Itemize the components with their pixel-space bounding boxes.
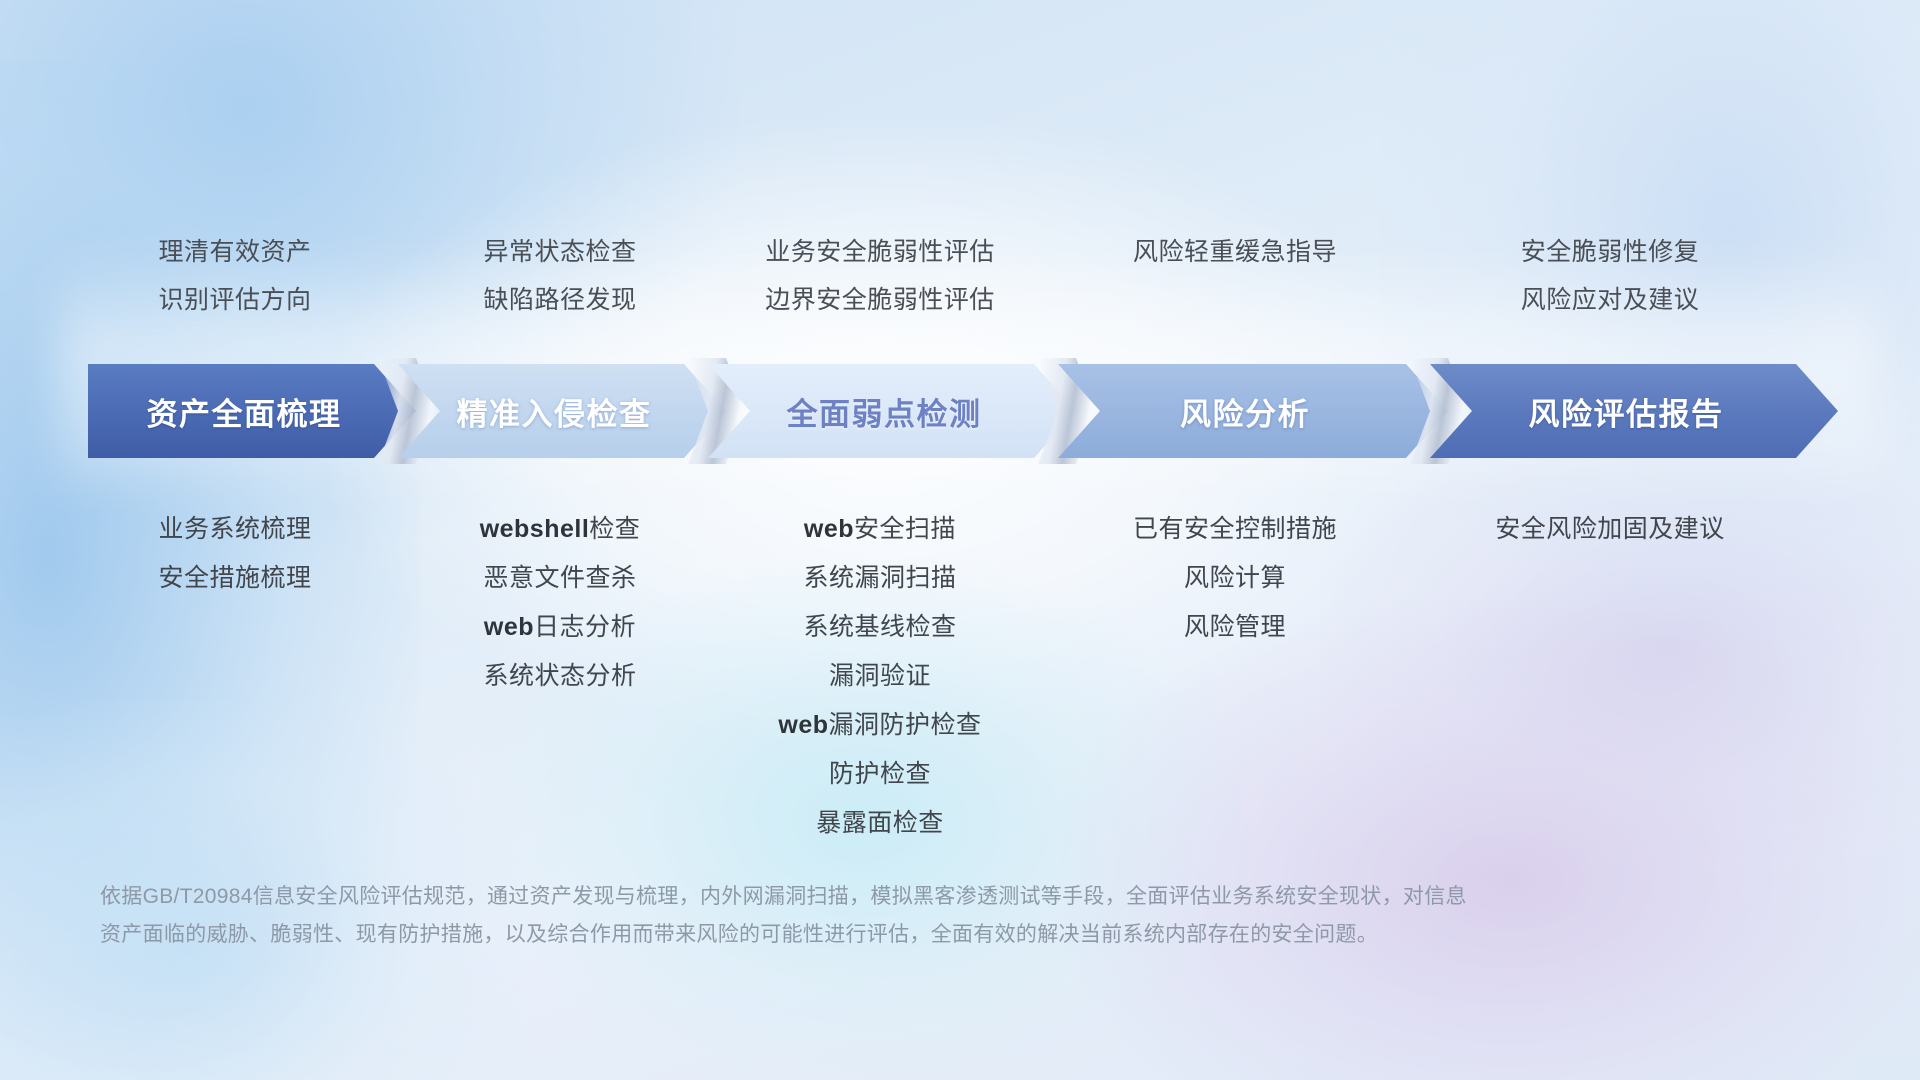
stage-arrow-asset-inventory[interactable]: 资产全面梳理 — [88, 364, 416, 458]
list-item: web安全扫描 — [680, 505, 1080, 554]
stage3-bottom-group: web安全扫描 系统漏洞扫描 系统基线检查 漏洞验证 web漏洞防护检查 防护检… — [680, 505, 1080, 848]
stage-arrow-risk-analysis[interactable]: 风险分析 — [1058, 364, 1448, 458]
stage-arrow-intrusion-check[interactable]: 精准入侵检查 — [398, 364, 726, 458]
stage3-label: 全面弱点检测 — [787, 389, 982, 434]
stage2-bottom-item-1-prefix: webshell — [480, 515, 590, 543]
list-item: 防护检查 — [680, 750, 1080, 799]
stage5-label: 风险评估报告 — [1529, 389, 1724, 434]
stage3-top-item-2: 边界安全脆弱性评估 — [680, 276, 1080, 324]
stage-arrow-weakness-detection[interactable]: 全面弱点检测 — [708, 364, 1076, 458]
stage3-bottom-item-6: 防护检查 — [829, 760, 931, 788]
stage4-bottom-item-1: 已有安全控制措施 — [1133, 515, 1337, 543]
stage4-bottom-item-3: 风险管理 — [1184, 613, 1286, 641]
footer-line-2: 资产面临的威胁、脆弱性、现有防护措施，以及综合作用而带来风险的可能性进行评估，全… — [100, 916, 1820, 954]
stage4-bottom-item-2: 风险计算 — [1184, 564, 1286, 592]
stage3-bottom-item-3: 系统基线检查 — [803, 613, 956, 641]
stage4-top-group: 风险轻重缓急指导 — [1035, 228, 1435, 276]
stage5-top-group: 安全脆弱性修复 风险应对及建议 — [1400, 228, 1820, 324]
stage1-label: 资产全面梳理 — [147, 389, 342, 434]
stage3-bottom-item-1-prefix: web — [804, 515, 854, 543]
stage3-bottom-item-5-prefix: web — [778, 711, 828, 739]
list-item: 风险管理 — [1035, 603, 1435, 652]
stage2-bottom-item-2: 恶意文件查杀 — [483, 564, 636, 592]
stage1-bottom-item-2: 安全措施梳理 — [158, 564, 311, 592]
footer-description: 依据GB/T20984信息安全风险评估规范，通过资产发现与梳理，内外网漏洞扫描，… — [100, 878, 1820, 954]
stage5-bottom-item-1: 安全风险加固及建议 — [1495, 515, 1725, 543]
list-item: 风险计算 — [1035, 554, 1435, 603]
stage3-bottom-item-4: 漏洞验证 — [829, 662, 931, 690]
stage3-bottom-item-5: 漏洞防护检查 — [829, 711, 982, 739]
list-item: web漏洞防护检查 — [680, 701, 1080, 750]
stage5-top-item-2: 风险应对及建议 — [1400, 276, 1820, 324]
stage2-bottom-item-3: 日志分析 — [534, 613, 636, 641]
stage5-top-item-1: 安全脆弱性修复 — [1400, 228, 1820, 276]
stage1-top-group: 理清有效资产 识别评估方向 — [40, 228, 430, 324]
stage4-bottom-group: 已有安全控制措施 风险计算 风险管理 — [1035, 505, 1435, 652]
stage2-bottom-item-4: 系统状态分析 — [483, 662, 636, 690]
list-item: 暴露面检查 — [680, 799, 1080, 848]
stage1-top-item-2: 识别评估方向 — [40, 276, 430, 324]
stage-top-labels: 理清有效资产 识别评估方向 异常状态检查 缺陷路径发现 业务安全脆弱性评估 边界… — [0, 228, 1920, 318]
stage3-bottom-item-1: 安全扫描 — [854, 515, 956, 543]
stage4-top-item-1: 风险轻重缓急指导 — [1035, 228, 1435, 276]
stage1-top-item-1: 理清有效资产 — [40, 228, 430, 276]
stage3-top-group: 业务安全脆弱性评估 边界安全脆弱性评估 — [680, 228, 1080, 324]
stage1-bottom-item-1: 业务系统梳理 — [158, 515, 311, 543]
list-item: 系统基线检查 — [680, 603, 1080, 652]
stage1-bottom-group: 业务系统梳理 安全措施梳理 — [40, 505, 430, 603]
stage2-label: 精准入侵检查 — [457, 389, 652, 434]
list-item: 已有安全控制措施 — [1035, 505, 1435, 554]
list-item: 业务系统梳理 — [40, 505, 430, 554]
stage2-bottom-item-3-prefix: web — [484, 613, 534, 641]
stage3-bottom-item-7: 暴露面检查 — [816, 809, 944, 837]
stage-arrow-assessment-report[interactable]: 风险评估报告 — [1430, 364, 1838, 458]
stage3-top-item-1: 业务安全脆弱性评估 — [680, 228, 1080, 276]
list-item: 漏洞验证 — [680, 652, 1080, 701]
stage5-bottom-group: 安全风险加固及建议 — [1400, 505, 1820, 554]
list-item: 安全风险加固及建议 — [1400, 505, 1820, 554]
list-item: 安全措施梳理 — [40, 554, 430, 603]
list-item: 系统漏洞扫描 — [680, 554, 1080, 603]
stage2-bottom-item-1: 检查 — [589, 515, 640, 543]
process-arrow-band: 资产全面梳理 精准入侵检查 全面弱点检测 风险分析 风险评估报告 — [0, 364, 1920, 458]
stage3-bottom-item-2: 系统漏洞扫描 — [803, 564, 956, 592]
stage4-label: 风险分析 — [1180, 389, 1310, 434]
footer-line-1: 依据GB/T20984信息安全风险评估规范，通过资产发现与梳理，内外网漏洞扫描，… — [100, 878, 1820, 916]
